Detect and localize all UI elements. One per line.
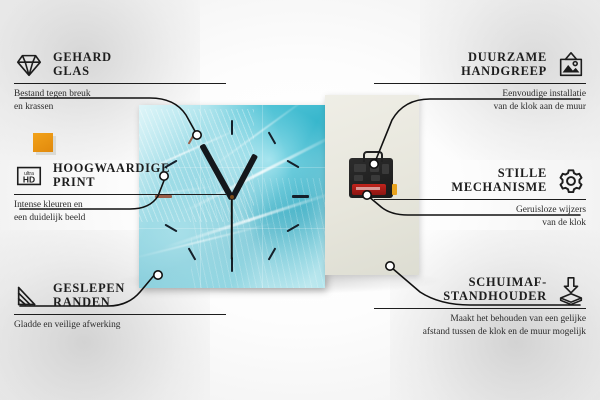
title-line-1: STILLE	[451, 167, 547, 181]
connector-dot-geslepen-randen	[154, 271, 162, 279]
divider	[374, 199, 586, 200]
title-line-1: HOOGWAARDIGE	[53, 162, 170, 176]
feature-geslepen-randen: GESLEPEN RANDEN Gladde en veilige afwerk…	[14, 281, 226, 332]
divider	[374, 308, 586, 309]
feature-title: STILLE MECHANISME	[451, 167, 547, 195]
infographic-canvas: GEHARD GLAS Bestand tegen breuk en krass…	[0, 0, 600, 400]
feature-schuimafstandhouder: SCHUIMAF- STANDHOUDER Maakt het behouden…	[374, 275, 586, 338]
feature-description: Intense kleuren en een duidelijk beeld	[14, 199, 226, 224]
desc-line-2: van de klok	[374, 217, 586, 229]
desc-line-2: afstand tussen de klok en de muur mogeli…	[374, 326, 586, 338]
desc-line-2: een duidelijk beeld	[14, 212, 226, 224]
title-line-1: DUURZAME	[461, 51, 547, 65]
divider	[374, 83, 586, 84]
diagonal-lines-icon	[14, 281, 44, 311]
feature-hoogwaardige-print: ultra HD HOOGWAARDIGE PRINT Intense kleu…	[14, 161, 226, 224]
desc-line-1: Bestand tegen breuk	[14, 88, 226, 100]
desc-line-1: Eenvoudige installatie	[374, 88, 586, 100]
desc-line-1: Geruisloze wijzers	[374, 204, 586, 216]
title-line-2: HANDGREEP	[461, 65, 547, 79]
title-line-2: RANDEN	[53, 296, 125, 310]
title-line-2: PRINT	[53, 176, 170, 190]
feature-description: Geruisloze wijzers van de klok	[374, 204, 586, 229]
title-line-1: SCHUIMAF-	[443, 276, 547, 290]
feature-description: Maakt het behouden van een gelijke afsta…	[374, 313, 586, 338]
desc-line-2: en krassen	[14, 101, 226, 113]
feature-duurzame-handgreep: DUURZAME HANDGREEP Eenvoudige installati…	[374, 50, 586, 113]
diamond-icon	[14, 50, 44, 80]
divider	[14, 314, 226, 315]
title-line-2: STANDHOUDER	[443, 290, 547, 304]
feature-title: GEHARD GLAS	[53, 51, 112, 79]
desc-line-1: Gladde en veilige afwerking	[14, 319, 226, 331]
title-line-2: MECHANISME	[451, 181, 547, 195]
desc-line-2: van de klok aan de muur	[374, 101, 586, 113]
feature-title: HOOGWAARDIGE PRINT	[53, 162, 170, 190]
divider	[14, 194, 226, 195]
divider	[14, 83, 226, 84]
ultra-hd-icon: ultra HD	[14, 161, 44, 191]
title-line-2: GLAS	[53, 65, 112, 79]
feature-gehard-glas: GEHARD GLAS Bestand tegen breuk en krass…	[14, 50, 226, 113]
feature-title: SCHUIMAF- STANDHOUDER	[443, 276, 547, 304]
desc-line-1: Maakt het behouden van een gelijke	[374, 313, 586, 325]
connector-dot-stille-mechanisme	[363, 191, 371, 199]
feature-title: DUURZAME HANDGREEP	[461, 51, 547, 79]
picture-frame-icon	[556, 50, 586, 80]
feature-description: Gladde en veilige afwerking	[14, 319, 226, 331]
gear-icon	[556, 166, 586, 196]
svg-text:HD: HD	[23, 175, 35, 185]
title-line-1: GESLEPEN	[53, 282, 125, 296]
feature-stille-mechanisme: STILLE MECHANISME Geruisloze wijzers van…	[374, 166, 586, 229]
feature-title: GESLEPEN RANDEN	[53, 282, 125, 310]
connector-dot-schuimafstandhouder	[386, 262, 394, 270]
press-down-pad-icon	[556, 275, 586, 305]
feature-description: Bestand tegen breuk en krassen	[14, 88, 226, 113]
connector-dot-gehard-glas	[193, 131, 201, 139]
feature-description: Eenvoudige installatie van de klok aan d…	[374, 88, 586, 113]
title-line-1: GEHARD	[53, 51, 112, 65]
desc-line-1: Intense kleuren en	[14, 199, 226, 211]
